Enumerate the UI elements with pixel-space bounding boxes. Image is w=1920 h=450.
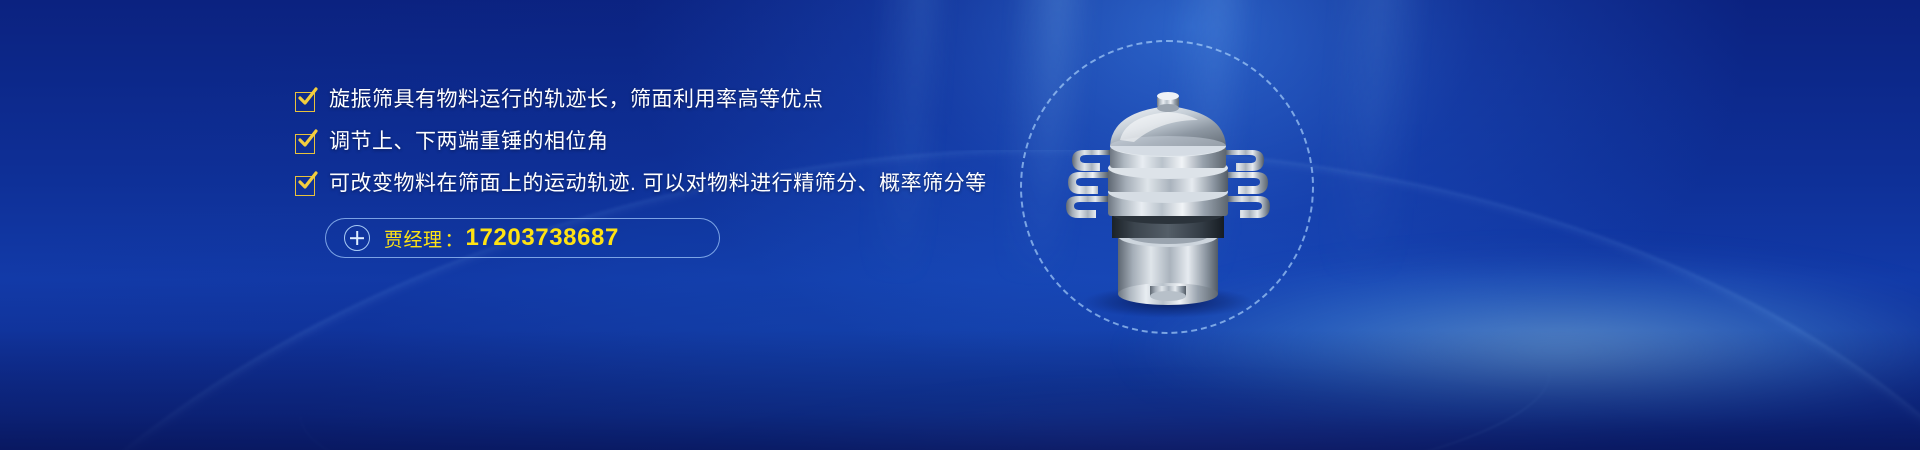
contact-name: 贾经理: [384, 225, 443, 252]
list-item: 旋振筛具有物料运行的轨迹长，筛面利用率高等优点: [295, 86, 1055, 114]
list-item: 可改变物料在筛面上的运动轨迹. 可以对物料进行精筛分、概率筛分等: [295, 170, 1055, 198]
check-square-icon: [295, 92, 315, 112]
plus-circle-icon: [344, 225, 370, 251]
contact-phone-button[interactable]: 贾经理 ： 17203738687: [325, 218, 720, 258]
check-square-icon: [295, 176, 315, 196]
feature-text: 可改变物料在筛面上的运动轨迹. 可以对物料进行精筛分、概率筛分等: [329, 170, 987, 198]
contact-separator: ：: [443, 225, 466, 252]
feature-text: 调节上、下两端重锤的相位角: [329, 128, 609, 156]
bottom-vignette: [0, 330, 1920, 450]
feature-text: 旋振筛具有物料运行的轨迹长，筛面利用率高等优点: [329, 86, 824, 114]
list-item: 调节上、下两端重锤的相位角: [295, 128, 1055, 156]
contact-phone-number: 17203738687: [466, 224, 619, 252]
promo-banner: 旋振筛具有物料运行的轨迹长，筛面利用率高等优点 调节上、下两端重锤的相位角 可改…: [0, 0, 1920, 450]
feature-list: 旋振筛具有物料运行的轨迹长，筛面利用率高等优点 调节上、下两端重锤的相位角 可改…: [295, 86, 1055, 212]
check-square-icon: [295, 134, 315, 154]
